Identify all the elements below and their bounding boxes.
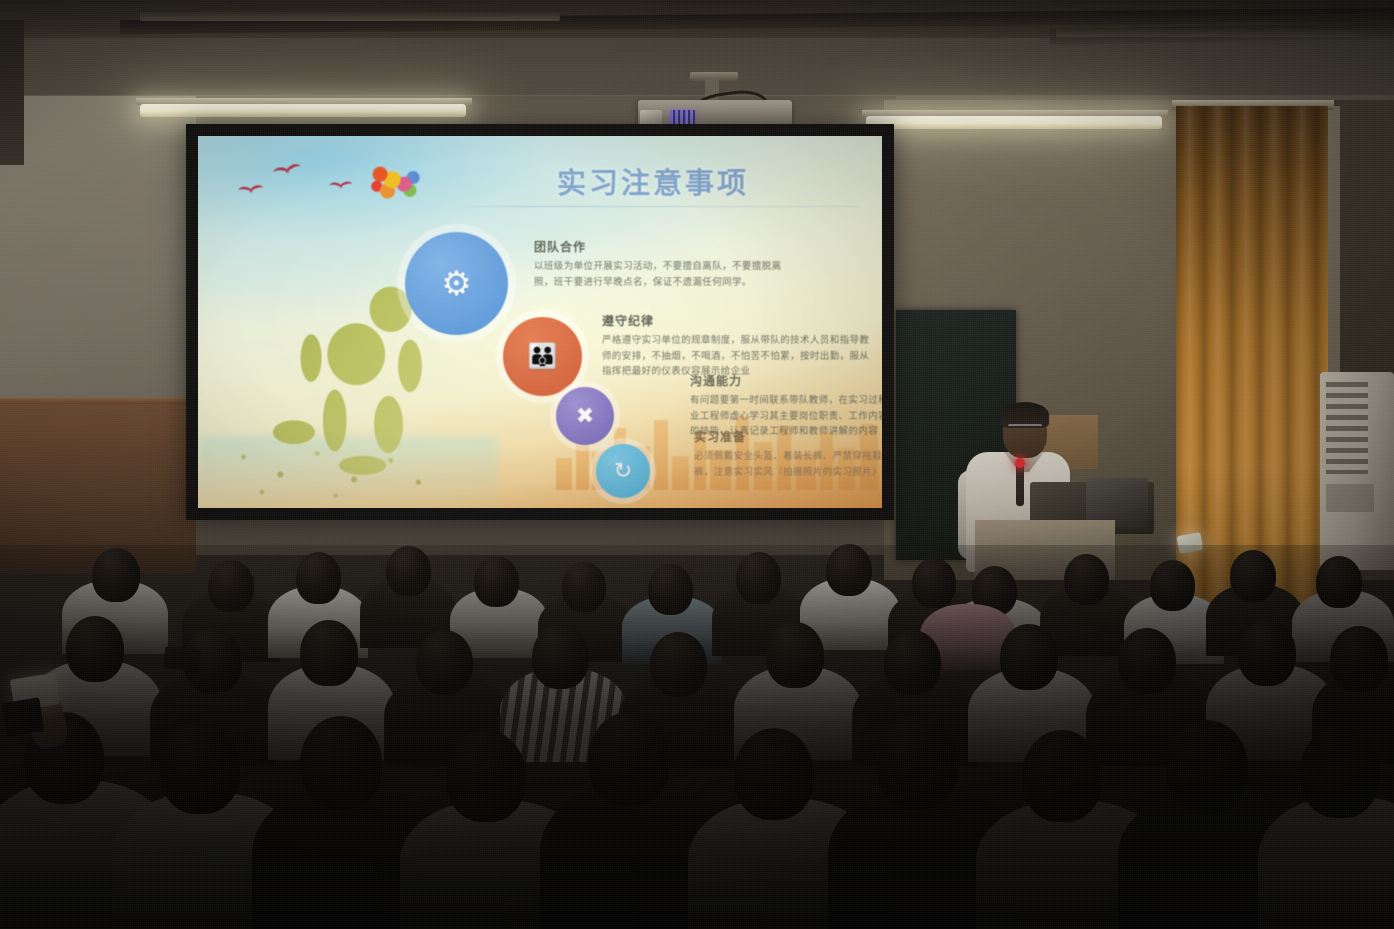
section-2-heading: 遵守纪律 bbox=[602, 312, 874, 329]
window-curtain[interactable] bbox=[1176, 106, 1328, 606]
audience-head bbox=[736, 552, 781, 604]
section-icon-circle-3: ✖ bbox=[556, 387, 614, 445]
people-group-icon: 👪 bbox=[528, 345, 558, 369]
audience-head bbox=[734, 728, 814, 820]
audience-head bbox=[66, 616, 124, 682]
left-wall-wainscot bbox=[0, 404, 196, 574]
bird-icon-1 bbox=[237, 179, 265, 194]
audience-head bbox=[766, 622, 824, 688]
audience-head bbox=[474, 556, 519, 607]
audience-head bbox=[416, 630, 473, 695]
slide-section-2: 遵守纪律 严格遵守实习单位的规章制度，服从带队的技术人员和指导教师的安排，不抽烟… bbox=[602, 312, 874, 380]
section-1-body: 以班级为单位开展实习活动，不要擅自离队，不要擅脱离照，班干要进行早晚点名，保证不… bbox=[534, 259, 786, 290]
audience-head bbox=[1022, 730, 1102, 822]
slide-section-1: 团队合作 以班级为单位开展实习活动，不要擅自离队，不要擅脱离照，班干要进行早晚点… bbox=[534, 238, 786, 290]
slide-section-4: 实习准备 必须佩戴安全头盔、着装长裤、严禁穿拖鞋短裤，注意实习实风（拍摄照片的实… bbox=[694, 428, 882, 480]
slide-title: 实习注意事项 bbox=[488, 160, 818, 202]
audience-head bbox=[876, 716, 958, 810]
microphone-led-indicator bbox=[1015, 458, 1025, 468]
section-1-heading: 团队合作 bbox=[534, 238, 786, 255]
audience-head bbox=[532, 624, 589, 689]
fluorescent-light-right bbox=[866, 116, 1162, 129]
audience-head bbox=[1000, 624, 1058, 690]
section-icon-circle-1: ⚙ bbox=[405, 232, 508, 335]
audience-head bbox=[650, 632, 707, 697]
runner-foliage-speckles bbox=[216, 436, 446, 506]
fluorescent-light-left bbox=[140, 104, 466, 117]
unlit-light-fixture-left bbox=[140, 12, 560, 21]
lecture-hall-photo: 实习注意事项 ⚙ 👪 ✖ ↻ 团队合作 以班级为单位开展实习活动，不要擅自离队，… bbox=[0, 0, 1394, 929]
projection-screen: 实习注意事项 ⚙ 👪 ✖ ↻ 团队合作 以班级为单位开展实习活动，不要擅自离队，… bbox=[198, 136, 882, 508]
audience-head bbox=[648, 564, 693, 615]
audience-head bbox=[296, 552, 341, 604]
handshake-tools-icon: ✖ bbox=[576, 405, 594, 427]
refresh-circle-icon: ↻ bbox=[614, 460, 632, 482]
audience-head bbox=[1166, 720, 1248, 814]
section-3-heading: 沟通能力 bbox=[690, 372, 882, 389]
audience-head bbox=[446, 730, 526, 822]
audience-head bbox=[826, 544, 872, 596]
audience-head bbox=[208, 560, 254, 612]
audience-head bbox=[588, 712, 670, 806]
left-wall-dark-panel bbox=[0, 20, 24, 165]
audience-head bbox=[1064, 554, 1109, 605]
audience-head bbox=[884, 630, 941, 695]
gears-icon: ⚙ bbox=[441, 267, 471, 301]
section-4-heading: 实习准备 bbox=[694, 428, 882, 445]
audience-head bbox=[1230, 550, 1276, 602]
air-conditioner-grille bbox=[1326, 382, 1368, 474]
audience-head bbox=[92, 548, 140, 602]
attendee-phone-body[interactable] bbox=[2, 697, 45, 737]
audience-head bbox=[912, 558, 956, 608]
glasses-icon bbox=[1008, 424, 1042, 432]
audience-head bbox=[160, 722, 240, 814]
audience-head bbox=[1238, 620, 1296, 686]
audience-head bbox=[1150, 560, 1195, 611]
audience-head bbox=[300, 716, 382, 810]
audience-head bbox=[1316, 556, 1362, 608]
section-icon-circle-4: ↻ bbox=[596, 444, 650, 498]
unlit-light-fixture-right bbox=[1056, 28, 1356, 37]
audience-head bbox=[562, 562, 606, 612]
bird-icon-3 bbox=[328, 176, 353, 189]
audience-head bbox=[1330, 626, 1388, 692]
audience-head bbox=[300, 620, 358, 686]
section-4-body: 必须佩戴安全头盔、着装长裤、严禁穿拖鞋短裤，注意实习实风（拍摄照片的实习照片） bbox=[694, 449, 882, 480]
audience-head bbox=[386, 546, 431, 596]
runner-mosaic-logo-icon bbox=[365, 158, 433, 210]
air-conditioner-panel[interactable] bbox=[1326, 484, 1374, 512]
attendee-phone-body[interactable] bbox=[163, 646, 201, 672]
title-divider bbox=[450, 206, 860, 207]
audience-head bbox=[1300, 726, 1380, 818]
audience-head bbox=[1118, 628, 1176, 694]
bird-icon-2 bbox=[271, 157, 303, 177]
